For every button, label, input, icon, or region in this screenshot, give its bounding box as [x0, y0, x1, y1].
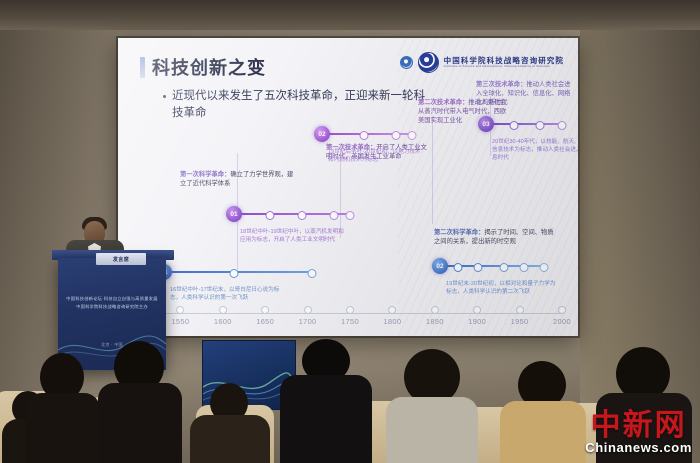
audience-member: [190, 393, 270, 463]
timeline-group-4-badge-label: 02: [436, 263, 443, 270]
timeline-node: [510, 121, 519, 130]
callout-tech-rev-2-lead: 第二次技术革命：: [418, 99, 468, 106]
timeline-group-5-badge: 03: [478, 116, 494, 132]
timeline-group-5-badge-label: 03: [482, 121, 489, 128]
podium-banner-line-1: 中国科技创新论坛·科技自立自强与高质量发展: [58, 296, 166, 302]
audience-member: [26, 363, 100, 463]
timeline-group-2-badge: 01: [226, 206, 242, 222]
timeline-node: [454, 263, 463, 272]
audience-shoulders: [386, 397, 478, 463]
timeline-group-1-caption: 16世纪中叶-17世纪末，以哥白尼日心说为标志，人类科学认识的第一次飞跃: [170, 286, 282, 302]
timeline-node: [308, 269, 317, 278]
timeline-group-4-caption: 19世纪末-20世纪初，以相对论和量子力学为标志，人类科学认识的第二次飞跃: [446, 280, 556, 296]
projection-screen: 科技创新之变 中国科学院科技战略咨询研究院 Institutes of Scie…: [118, 38, 578, 336]
timeline-group-2-caption: 18世纪中叶-19世纪中叶，以蒸汽机发明和应用为标志，开启了人类工业文明时代: [240, 228, 344, 244]
timeline-group-5-caption: 20世纪30-40年代，以核能、航天、电子信息技术为标志，推动人类社会进入信息时…: [492, 138, 578, 162]
timeline-group-3-caption: 19世纪后半叶-20世纪初，以电力技术和内燃机技术为标志: [328, 148, 426, 164]
timeline-node: [408, 131, 417, 140]
timeline-node: [540, 263, 549, 272]
connector-line-2: [340, 156, 341, 238]
timeline-node: [346, 211, 355, 220]
timeline-group-1-line: [170, 271, 316, 273]
timeline-node: [474, 263, 483, 272]
callout-tech-rev-3: 第三次技术革命：推动人类社会进入全球化、知识化、信息化、网络化的新时代: [476, 80, 574, 107]
callout-sci-rev-2-lead: 第二次科学革命：: [434, 229, 484, 236]
hall-ceiling: [0, 0, 700, 30]
timeline-node: [536, 121, 545, 130]
podium-nameplate: 发言席: [96, 253, 146, 265]
conference-photo: 科技创新之变 中国科学院科技战略咨询研究院 Institutes of Scie…: [0, 0, 700, 463]
timeline-node: [520, 263, 529, 272]
audience-member: [500, 367, 586, 463]
timeline-node: [266, 211, 275, 220]
audience-member: [280, 343, 372, 463]
audience-shoulders: [98, 383, 182, 463]
connector-line-3: [432, 116, 433, 224]
podium-banner-line-2: 中国科学院科技战略咨询研究院主办: [58, 304, 166, 310]
callout-sci-rev-1: 第一次科学革命：确立了力学世界观，建立了近代科学体系: [180, 170, 298, 188]
callout-sci-rev-2: 第二次科学革命：揭示了时间、空间、物质之间的关系，提出新的时空观: [434, 228, 558, 246]
callout-sci-rev-1-lead: 第一次科学革命：: [180, 171, 230, 178]
presentation-slide: 科技创新之变 中国科学院科技战略咨询研究院 Institutes of Scie…: [118, 38, 578, 336]
callout-tech-rev-3-lead: 第三次技术革命：: [476, 81, 526, 88]
audience-shoulders: [26, 393, 100, 463]
timeline-node: [330, 211, 339, 220]
audience-member: [98, 351, 182, 463]
podium-nameplate-label: 发言席: [113, 256, 129, 263]
audience-shoulders: [280, 375, 372, 463]
timeline-node: [558, 121, 567, 130]
timeline-group-4-badge: 02: [432, 258, 448, 274]
timeline-node: [360, 131, 369, 140]
audience-shoulders: [190, 415, 270, 463]
audience-member: [386, 359, 478, 463]
timeline-node: [298, 211, 307, 220]
timeline-group-3-badge-label: 02: [318, 131, 325, 138]
timeline-group-3-badge: 02: [314, 126, 330, 142]
timeline-graphic: 第一次科学革命：确立了力学世界观，建立了近代科学体系 第一次技术革命：开启了人类…: [118, 38, 578, 336]
news-watermark: 中新网 Chinanews.com: [585, 411, 692, 455]
timeline-group-5-line: [492, 123, 562, 125]
timeline-node: [392, 131, 401, 140]
timeline-node: [230, 269, 239, 278]
timeline-node: [500, 263, 509, 272]
watermark-en: Chinanews.com: [585, 441, 692, 455]
watermark-cn: 中新网: [585, 411, 692, 441]
audience-shoulders: [500, 401, 586, 463]
timeline-group-2-badge-label: 01: [230, 211, 237, 218]
